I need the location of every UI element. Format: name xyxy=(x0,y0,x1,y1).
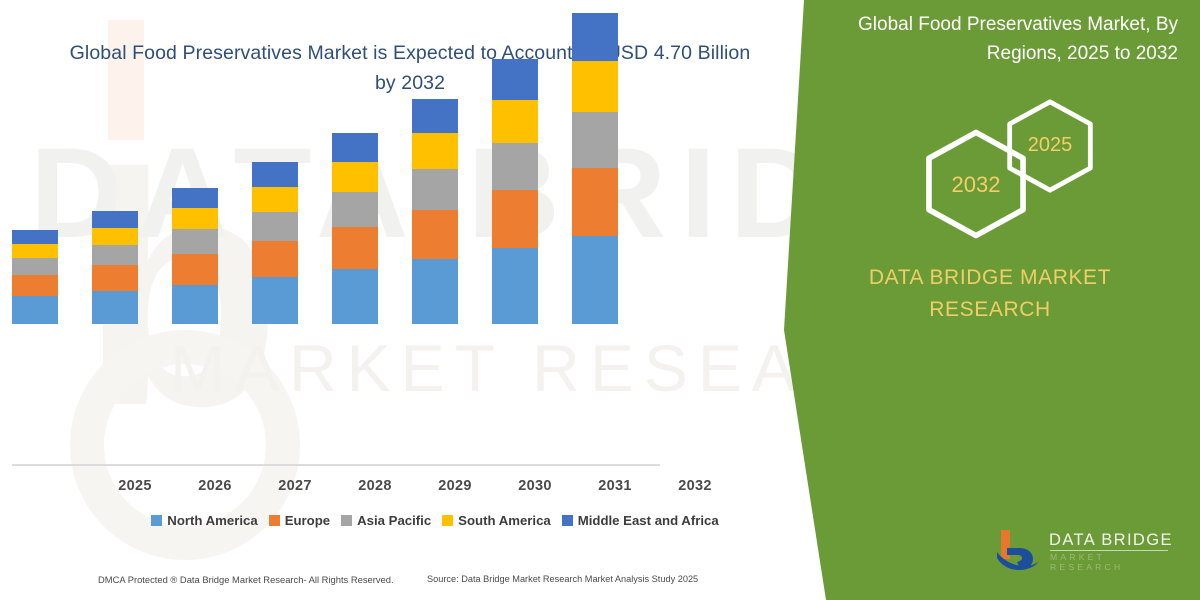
chart-legend: North AmericaEuropeAsia PacificSouth Ame… xyxy=(100,513,770,528)
brand-line-2: RESEARCH xyxy=(810,294,1170,326)
bar-segment-asia-pacific xyxy=(412,169,458,210)
bar-2031 xyxy=(492,59,538,324)
legend-item-middle-east-and-africa[interactable]: Middle East and Africa xyxy=(562,513,719,528)
x-tick-2029: 2029 xyxy=(425,478,485,494)
bar-segment-south-america xyxy=(252,187,298,213)
bar-segment-asia-pacific xyxy=(492,143,538,191)
legend-item-north-america[interactable]: North America xyxy=(151,513,257,528)
bar-segment-middle-east-and-africa xyxy=(492,59,538,100)
bar-segment-asia-pacific xyxy=(572,112,618,169)
bar-segment-north-america xyxy=(412,259,458,324)
bar-segment-europe xyxy=(92,265,138,291)
x-axis-line xyxy=(12,464,660,466)
x-tick-2028: 2028 xyxy=(345,478,405,494)
bar-segment-north-america xyxy=(12,296,58,324)
bar-segment-europe xyxy=(252,241,298,277)
panel-title: Global Food Preservatives Market, By Reg… xyxy=(828,10,1178,69)
bar-2029 xyxy=(332,133,378,324)
bar-2026 xyxy=(92,211,138,324)
bar-segment-middle-east-and-africa xyxy=(172,188,218,208)
x-tick-2026: 2026 xyxy=(185,478,245,494)
source-note: Source: Data Bridge Market Research Mark… xyxy=(427,574,698,584)
bar-segment-asia-pacific xyxy=(172,229,218,253)
x-tick-2031: 2031 xyxy=(585,478,645,494)
bar-2032 xyxy=(572,13,618,324)
legend-label: Middle East and Africa xyxy=(578,513,719,528)
green-side-panel: Global Food Preservatives Market, By Reg… xyxy=(780,0,1200,600)
bar-segment-south-america xyxy=(492,100,538,143)
bar-segment-europe xyxy=(572,168,618,235)
bar-2025 xyxy=(12,230,58,324)
bar-segment-middle-east-and-africa xyxy=(252,162,298,186)
legend-label: Europe xyxy=(285,513,330,528)
bar-segment-europe xyxy=(172,254,218,285)
bar-segment-north-america xyxy=(92,291,138,324)
bar-segment-asia-pacific xyxy=(12,258,58,275)
footer-bar: DMCA Protected ® Data Bridge Market Rese… xyxy=(0,568,800,590)
bar-segment-middle-east-and-africa xyxy=(12,230,58,244)
bar-segment-middle-east-and-africa xyxy=(412,99,458,133)
watermark-line2: MARKET RESEARCH xyxy=(170,330,800,406)
bar-segment-north-america xyxy=(332,269,378,324)
bar-segment-north-america xyxy=(492,248,538,324)
bar-segment-middle-east-and-africa xyxy=(332,133,378,162)
logo-subtext: MARKET RESEARCH xyxy=(1050,552,1175,572)
bar-segment-europe xyxy=(492,190,538,248)
legend-swatch-icon xyxy=(562,515,573,526)
bar-segment-south-america xyxy=(412,133,458,169)
data-bridge-logo: DATA BRIDGE MARKET RESEARCH xyxy=(995,526,1175,574)
hexagon-2025-label: 2025 xyxy=(1002,134,1098,157)
bar-segment-europe xyxy=(332,227,378,269)
bar-segment-south-america xyxy=(172,208,218,229)
bar-segment-south-america xyxy=(12,244,58,258)
chart-plot-area xyxy=(0,0,670,325)
legend-item-south-america[interactable]: South America xyxy=(442,513,551,528)
bar-segment-europe xyxy=(12,275,58,296)
logo-text: DATA BRIDGE xyxy=(1049,531,1173,550)
legend-item-asia-pacific[interactable]: Asia Pacific xyxy=(341,513,431,528)
dmca-notice: DMCA Protected ® Data Bridge Market Rese… xyxy=(98,574,394,585)
legend-label: North America xyxy=(167,513,257,528)
hexagon-group: 2032 2025 xyxy=(910,98,1120,243)
bar-2030 xyxy=(412,99,458,324)
bar-segment-asia-pacific xyxy=(332,192,378,226)
x-tick-2030: 2030 xyxy=(505,478,565,494)
bar-segment-asia-pacific xyxy=(252,212,298,241)
legend-label: South America xyxy=(458,513,551,528)
bar-segment-north-america xyxy=(172,285,218,325)
hexagon-2025: 2025 xyxy=(1002,98,1098,194)
bar-segment-middle-east-and-africa xyxy=(572,13,618,61)
brand-name: DATA BRIDGE MARKET RESEARCH xyxy=(810,262,1170,325)
legend-swatch-icon xyxy=(442,515,453,526)
x-tick-2025: 2025 xyxy=(105,478,165,494)
bar-segment-south-america xyxy=(92,228,138,245)
bar-segment-asia-pacific xyxy=(92,245,138,265)
bar-segment-middle-east-and-africa xyxy=(92,211,138,228)
legend-swatch-icon xyxy=(341,515,352,526)
logo-divider xyxy=(1050,550,1168,551)
bar-2028 xyxy=(252,162,298,324)
infographic-root: b DATA BRIDGE MARKET RESEARCH Global Foo… xyxy=(0,0,1200,600)
legend-item-europe[interactable]: Europe xyxy=(269,513,330,528)
x-tick-2027: 2027 xyxy=(265,478,325,494)
logo-mark-icon xyxy=(995,528,1041,572)
bar-segment-south-america xyxy=(572,61,618,112)
brand-line-1: DATA BRIDGE MARKET xyxy=(810,262,1170,294)
bar-2027 xyxy=(172,188,218,324)
bar-segment-north-america xyxy=(572,236,618,324)
legend-label: Asia Pacific xyxy=(357,513,431,528)
legend-swatch-icon xyxy=(151,515,162,526)
x-tick-2032: 2032 xyxy=(665,478,725,494)
x-axis-tick-labels: 20252026202720282029203020312032 xyxy=(100,478,770,502)
bar-segment-north-america xyxy=(252,277,298,324)
legend-swatch-icon xyxy=(269,515,280,526)
bar-segment-south-america xyxy=(332,162,378,193)
bar-segment-europe xyxy=(412,210,458,260)
